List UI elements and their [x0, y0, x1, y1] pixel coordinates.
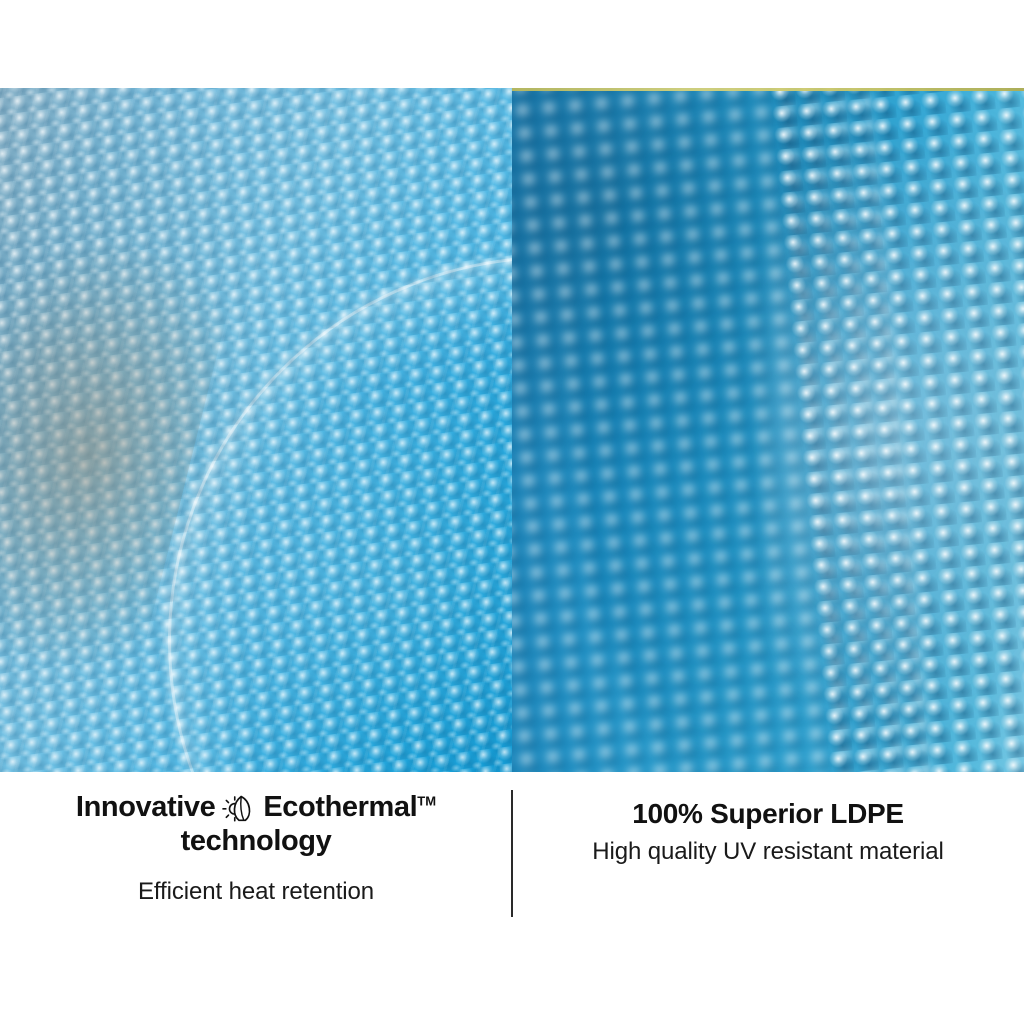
- photo-band: [0, 88, 1024, 772]
- right-caption-block: 100% Superior LDPE High quality UV resis…: [512, 772, 1024, 1024]
- right-photo-top-edge-line: [512, 88, 1024, 91]
- left-headline: Innovative: [18, 790, 494, 858]
- left-headline-word-innovative: Innovative: [76, 790, 215, 824]
- left-headline-ecothermal-text: Ecothermal: [263, 791, 417, 823]
- caption-band: Innovative: [0, 772, 1024, 1024]
- left-headline-line1: Innovative: [18, 790, 494, 824]
- right-product-photo: [512, 88, 1024, 772]
- right-subtext: High quality UV resistant material: [530, 838, 1006, 866]
- sun-leaf-eco-icon: [222, 791, 256, 825]
- left-product-photo: [0, 88, 512, 772]
- left-subtext: Efficient heat retention: [18, 878, 494, 906]
- right-photo-sheen: [764, 148, 1024, 708]
- left-headline-line2: technology: [18, 824, 494, 858]
- left-headline-word-ecothermal: EcothermalTM: [263, 790, 436, 824]
- trademark-mark: TM: [417, 793, 436, 808]
- left-caption-block: Innovative: [0, 772, 512, 1024]
- product-feature-banner: Innovative: [0, 0, 1024, 1024]
- right-headline: 100% Superior LDPE: [530, 798, 1006, 830]
